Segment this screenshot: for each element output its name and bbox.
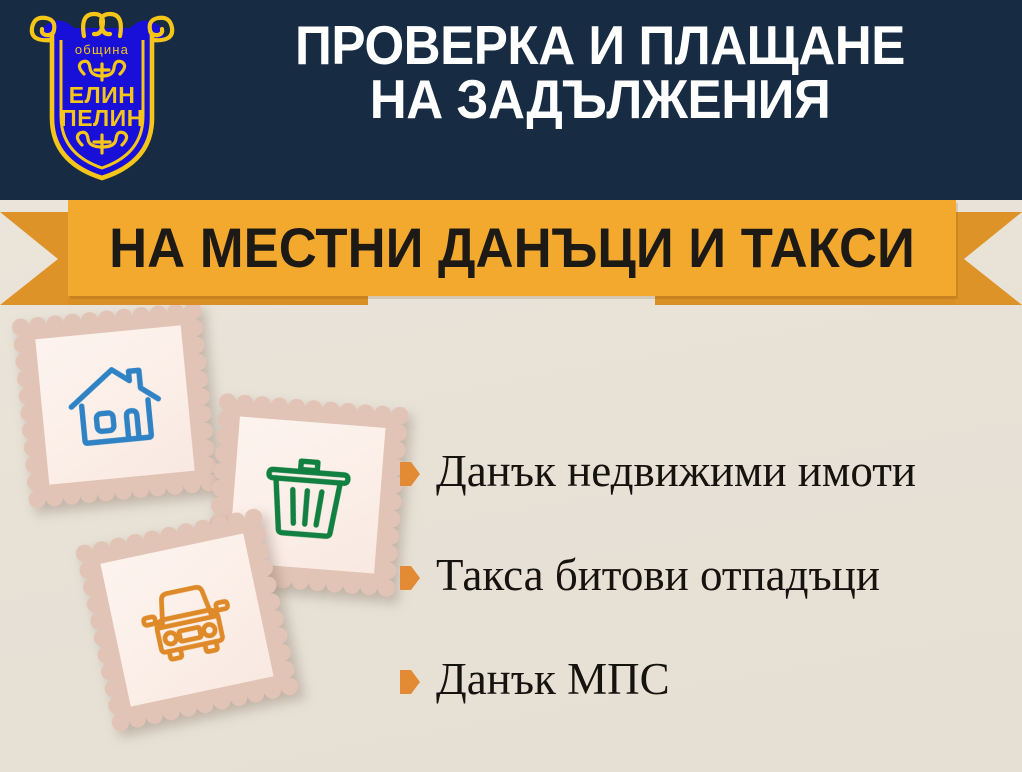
coat-of-arms: община ЕЛИН ПЕЛИН [22, 6, 182, 186]
list-item-label: Данък недвижими имоти [436, 448, 916, 495]
car-icon [74, 507, 299, 732]
crest-line-top: община [75, 42, 129, 57]
page-title-line-2: НА ЗАДЪЛЖЕНИЯ [219, 72, 982, 126]
arrow-bullet-icon [400, 566, 420, 590]
subtitle-ribbon: НА МЕСТНИ ДАНЪЦИ И ТАКСИ [0, 200, 1022, 305]
list-item[interactable]: Такса битови отпадъци [400, 524, 1012, 628]
stamp-card-property [11, 301, 218, 508]
list-item[interactable]: Данък МПС [400, 628, 1012, 732]
page-title-line-1: ПРОВЕРКА И ПЛАЩАНЕ [219, 18, 982, 72]
stamp-card-group [0, 300, 430, 772]
list-item-label: Данък МПС [436, 656, 670, 703]
list-item-label: Такса битови отпадъци [436, 552, 880, 599]
ribbon-band: НА МЕСТНИ ДАНЪЦИ И ТАКСИ [68, 200, 956, 296]
arrow-bullet-icon [400, 670, 420, 694]
arrow-bullet-icon [400, 462, 420, 486]
ribbon-label: НА МЕСТНИ ДАНЪЦИ И ТАКСИ [95, 220, 930, 276]
house-icon [11, 301, 218, 508]
crest-line-bottom: ПЕЛИН [60, 105, 144, 131]
page-title: ПРОВЕРКА И ПЛАЩАНЕ НА ЗАДЪЛЖЕНИЯ [219, 18, 982, 127]
poster-root: община ЕЛИН ПЕЛИН ПРОВЕРКА И ПЛАЩАНЕ НА … [0, 0, 1022, 772]
header-banner: община ЕЛИН ПЕЛИН ПРОВЕРКА И ПЛАЩАНЕ НА … [0, 0, 1022, 200]
tax-type-list: Данък недвижими имоти Такса битови отпад… [400, 420, 1012, 732]
stamp-card-vehicle [74, 507, 299, 732]
list-item[interactable]: Данък недвижими имоти [400, 420, 1012, 524]
